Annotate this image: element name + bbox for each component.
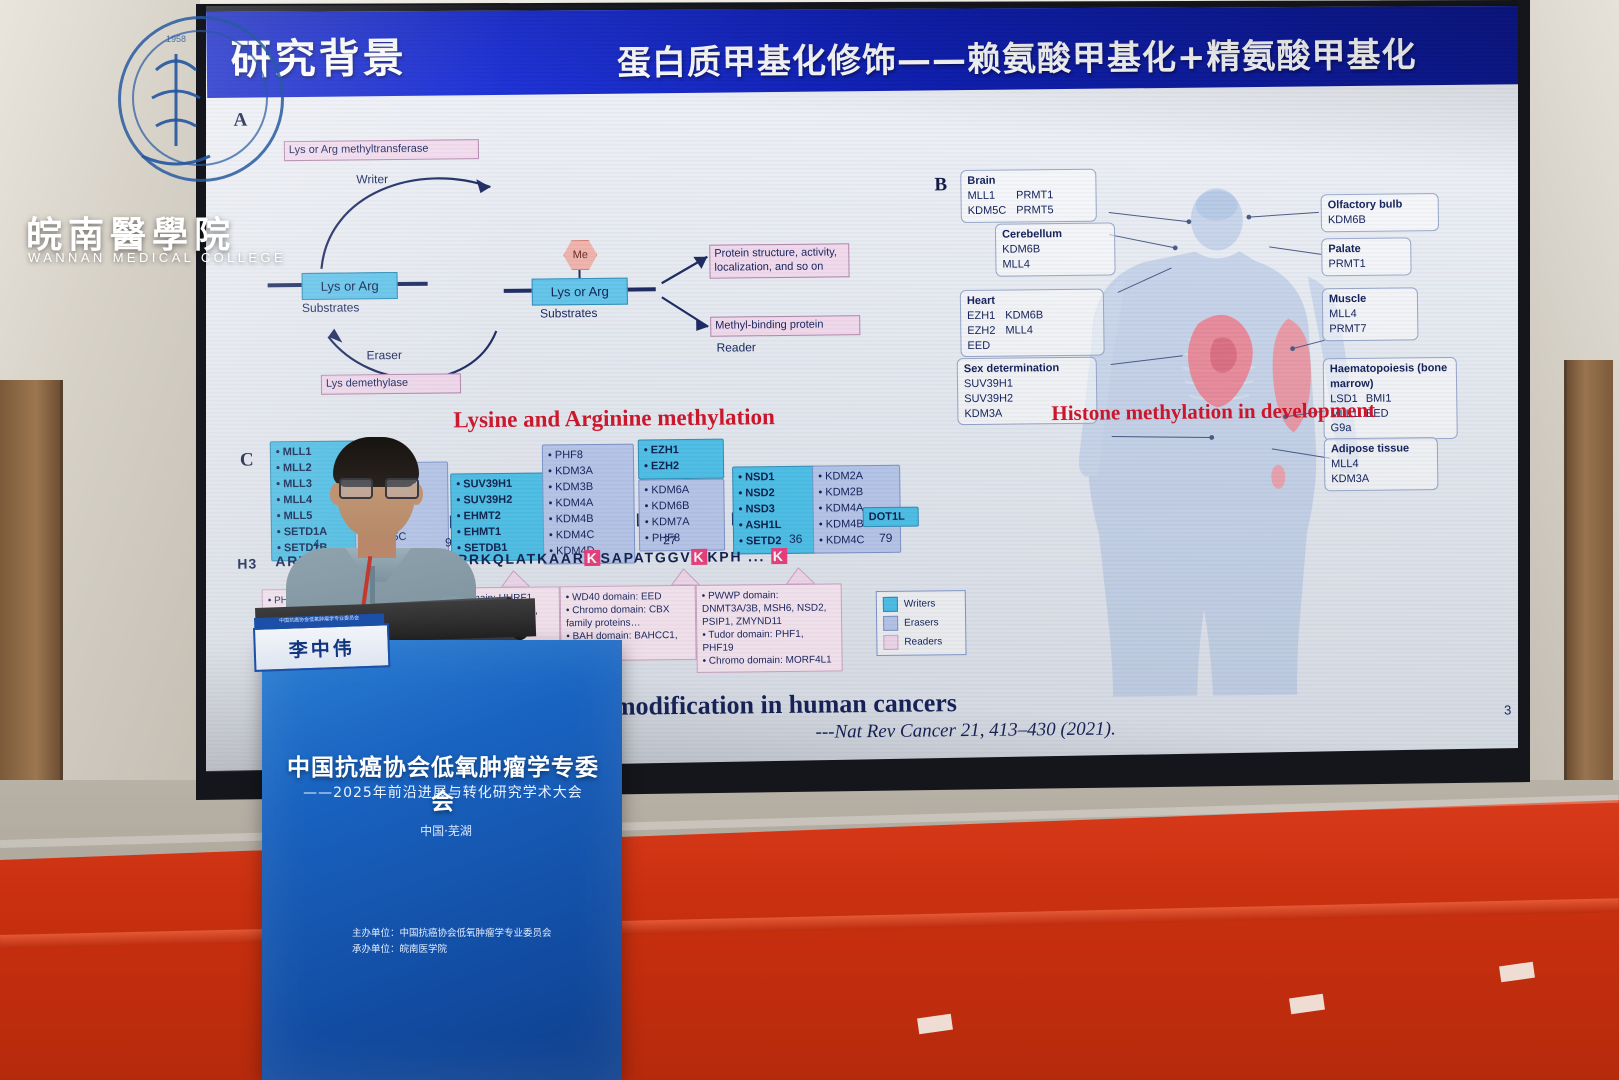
legend-label-readers: Readers <box>904 636 942 647</box>
writer-label: Writer <box>356 172 388 186</box>
gene: KDM5C <box>968 203 1007 218</box>
position-36: 36 <box>789 532 803 546</box>
outcome-box: Protein structure, activity, localizatio… <box>709 243 849 278</box>
tissue-name: Cerebellum <box>1002 228 1062 241</box>
legend-swatch-erasers <box>883 616 898 631</box>
eraser-enzyme-box: Lys demethylase <box>321 373 461 394</box>
gene: MLL1 <box>967 188 1006 203</box>
organizer-line-1: 主办单位：中国抗癌协会低氧肿瘤学专业委员会 <box>352 926 552 942</box>
tissue-box-adipose: Adipose tissue MLL4 KDM3A <box>1324 437 1439 491</box>
podium-banner-location: 中国·芜湖 <box>296 822 596 839</box>
conference-photo-scene: 研究背景 蛋白质甲基化修饰——赖氨酸甲基化+精氨酸甲基化 A <box>0 0 1619 1080</box>
glasses-icon <box>339 478 415 498</box>
reader-protein-box: Methyl-binding protein <box>710 315 860 336</box>
writer-gene-box: • EZH1• EZH2 <box>638 439 725 480</box>
writer-enzyme-box: Lys or Arg methyltransferase <box>284 139 479 161</box>
slide-header-bar: 研究背景 蛋白质甲基化修饰——赖氨酸甲基化+精氨酸甲基化 <box>206 0 1519 98</box>
substrate-box-right: Lys or Arg <box>532 278 628 306</box>
position-27: 27 <box>663 533 677 547</box>
legend-label-writers: Writers <box>904 598 936 609</box>
tissue-name: Brain <box>967 175 995 187</box>
legend-swatch-readers <box>883 635 898 650</box>
tissue-box-olfactory-bulb: Olfactory bulb KDM6B <box>1321 193 1439 232</box>
gene: EED <box>967 338 995 353</box>
methyl-group-tag: Me <box>563 240 597 270</box>
legend-swatch-writers <box>883 597 898 612</box>
tissue-name: Heart <box>967 295 995 307</box>
podium-organizers: 主办单位：中国抗癌协会低氧肿瘤学专业委员会 承办单位：皖南医学院 <box>352 926 552 958</box>
door-right <box>1564 360 1613 830</box>
tissue-name: Haematopoiesis (bone marrow) <box>1330 362 1448 390</box>
tissue-name: Palate <box>1328 243 1361 255</box>
slide-section-tag: 研究背景 <box>230 24 407 86</box>
gene: PRMT1 <box>1016 188 1053 203</box>
tissue-name: Adipose tissue <box>1331 442 1409 455</box>
gene: G9a <box>1331 421 1359 436</box>
speaker-name: 李中伟 <box>288 633 355 662</box>
tissue-name: Olfactory bulb <box>1328 198 1403 211</box>
tissue-box-heart: Heart EZH1 EZH2 EED KDM6B MLL4 <box>960 289 1105 358</box>
reader-label: Reader <box>716 340 756 354</box>
watermark-name-en: WANNAN MEDICAL COLLEGE <box>28 250 286 265</box>
legend-box: Writers Erasers Readers <box>876 590 967 656</box>
gene: PRMT1 <box>1328 256 1404 272</box>
tissue-name: Sex determination <box>964 362 1060 375</box>
gene: KDM6B <box>1005 308 1043 323</box>
tissue-box-palate: Palate PRMT1 <box>1321 237 1411 276</box>
eraser-gene-box: • KDM6A• KDM6B• KDM7A• PHF8 <box>638 479 725 552</box>
panel-a-caption: Lysine and Arginine methylation <box>453 404 775 433</box>
substrate-box-left: Lys or Arg <box>302 272 398 300</box>
substrate-right-label: Substrates <box>540 306 598 321</box>
gene: PRMT5 <box>1016 203 1053 218</box>
panel-a-letter: A <box>233 110 247 132</box>
writer-gene-box: • SUV39H1• SUV39H2• EHMT2• EHMT1• SETDB1 <box>450 472 547 561</box>
gene: MLL4 <box>1329 306 1411 322</box>
tissue-box-cerebellum: Cerebellum KDM6B MLL4 <box>995 222 1116 276</box>
position-79: 79 <box>879 531 893 545</box>
reader-domain-box: • PWWP domain: DNMT3A/3B, MSH6, NSD2, PS… <box>696 583 843 673</box>
legend-label-erasers: Erasers <box>904 617 939 628</box>
gene: PRMT7 <box>1329 321 1411 337</box>
panel-b-letter: B <box>934 174 947 196</box>
eraser-label: Eraser <box>366 348 402 362</box>
substrate-left-label: Substrates <box>302 300 360 315</box>
panel-c-letter: C <box>240 450 254 472</box>
gene: MLL4 <box>1002 256 1108 272</box>
slide-footer-citation: ---Nat Rev Cancer 21, 413–430 (2021). <box>815 719 1116 744</box>
gene: MLL4 <box>1331 456 1431 472</box>
podium <box>262 640 622 1080</box>
organizer-line-2: 承办单位：皖南医学院 <box>352 942 552 958</box>
gene: EZH2 <box>967 323 995 338</box>
gene: SUV39H1 <box>964 376 1090 392</box>
slide-page-number: 3 <box>1504 702 1511 717</box>
podium-banner-subtitle: ——2025年前沿进展与转化研究学术大会 <box>278 782 608 802</box>
h3-label: H3 <box>237 555 257 571</box>
eraser-gene-box: • PHF8• KDM3A• KDM3B• KDM4A• KDM4B• KDM4… <box>542 444 636 565</box>
slide-title: 蛋白质甲基化修饰——赖氨酸甲基化+精氨酸甲基化 <box>536 26 1497 85</box>
gene: EZH1 <box>967 309 995 324</box>
gene: KDM6B <box>1328 212 1432 228</box>
tissue-box-brain: Brain MLL1 KDM5C PRMT1 PRMT5 <box>960 169 1097 223</box>
speaker-nameplate: 李中伟 <box>253 623 390 672</box>
gene: KDM3A <box>1331 471 1431 487</box>
gene: KDM6B <box>1002 241 1108 257</box>
tissue-name: Muscle <box>1329 293 1366 305</box>
panel-b-caption: Histone methylation in development <box>1051 398 1375 426</box>
writer-gene-box: • NSD1• NSD2• NSD3• ASH1L• SETD2 <box>732 466 817 555</box>
gene: MLL4 <box>1005 323 1043 338</box>
writer-gene-box-dot1l: DOT1L <box>863 507 919 528</box>
position-9: 9 <box>445 535 452 549</box>
tissue-box-muscle: Muscle MLL4 PRMT7 <box>1322 287 1419 341</box>
